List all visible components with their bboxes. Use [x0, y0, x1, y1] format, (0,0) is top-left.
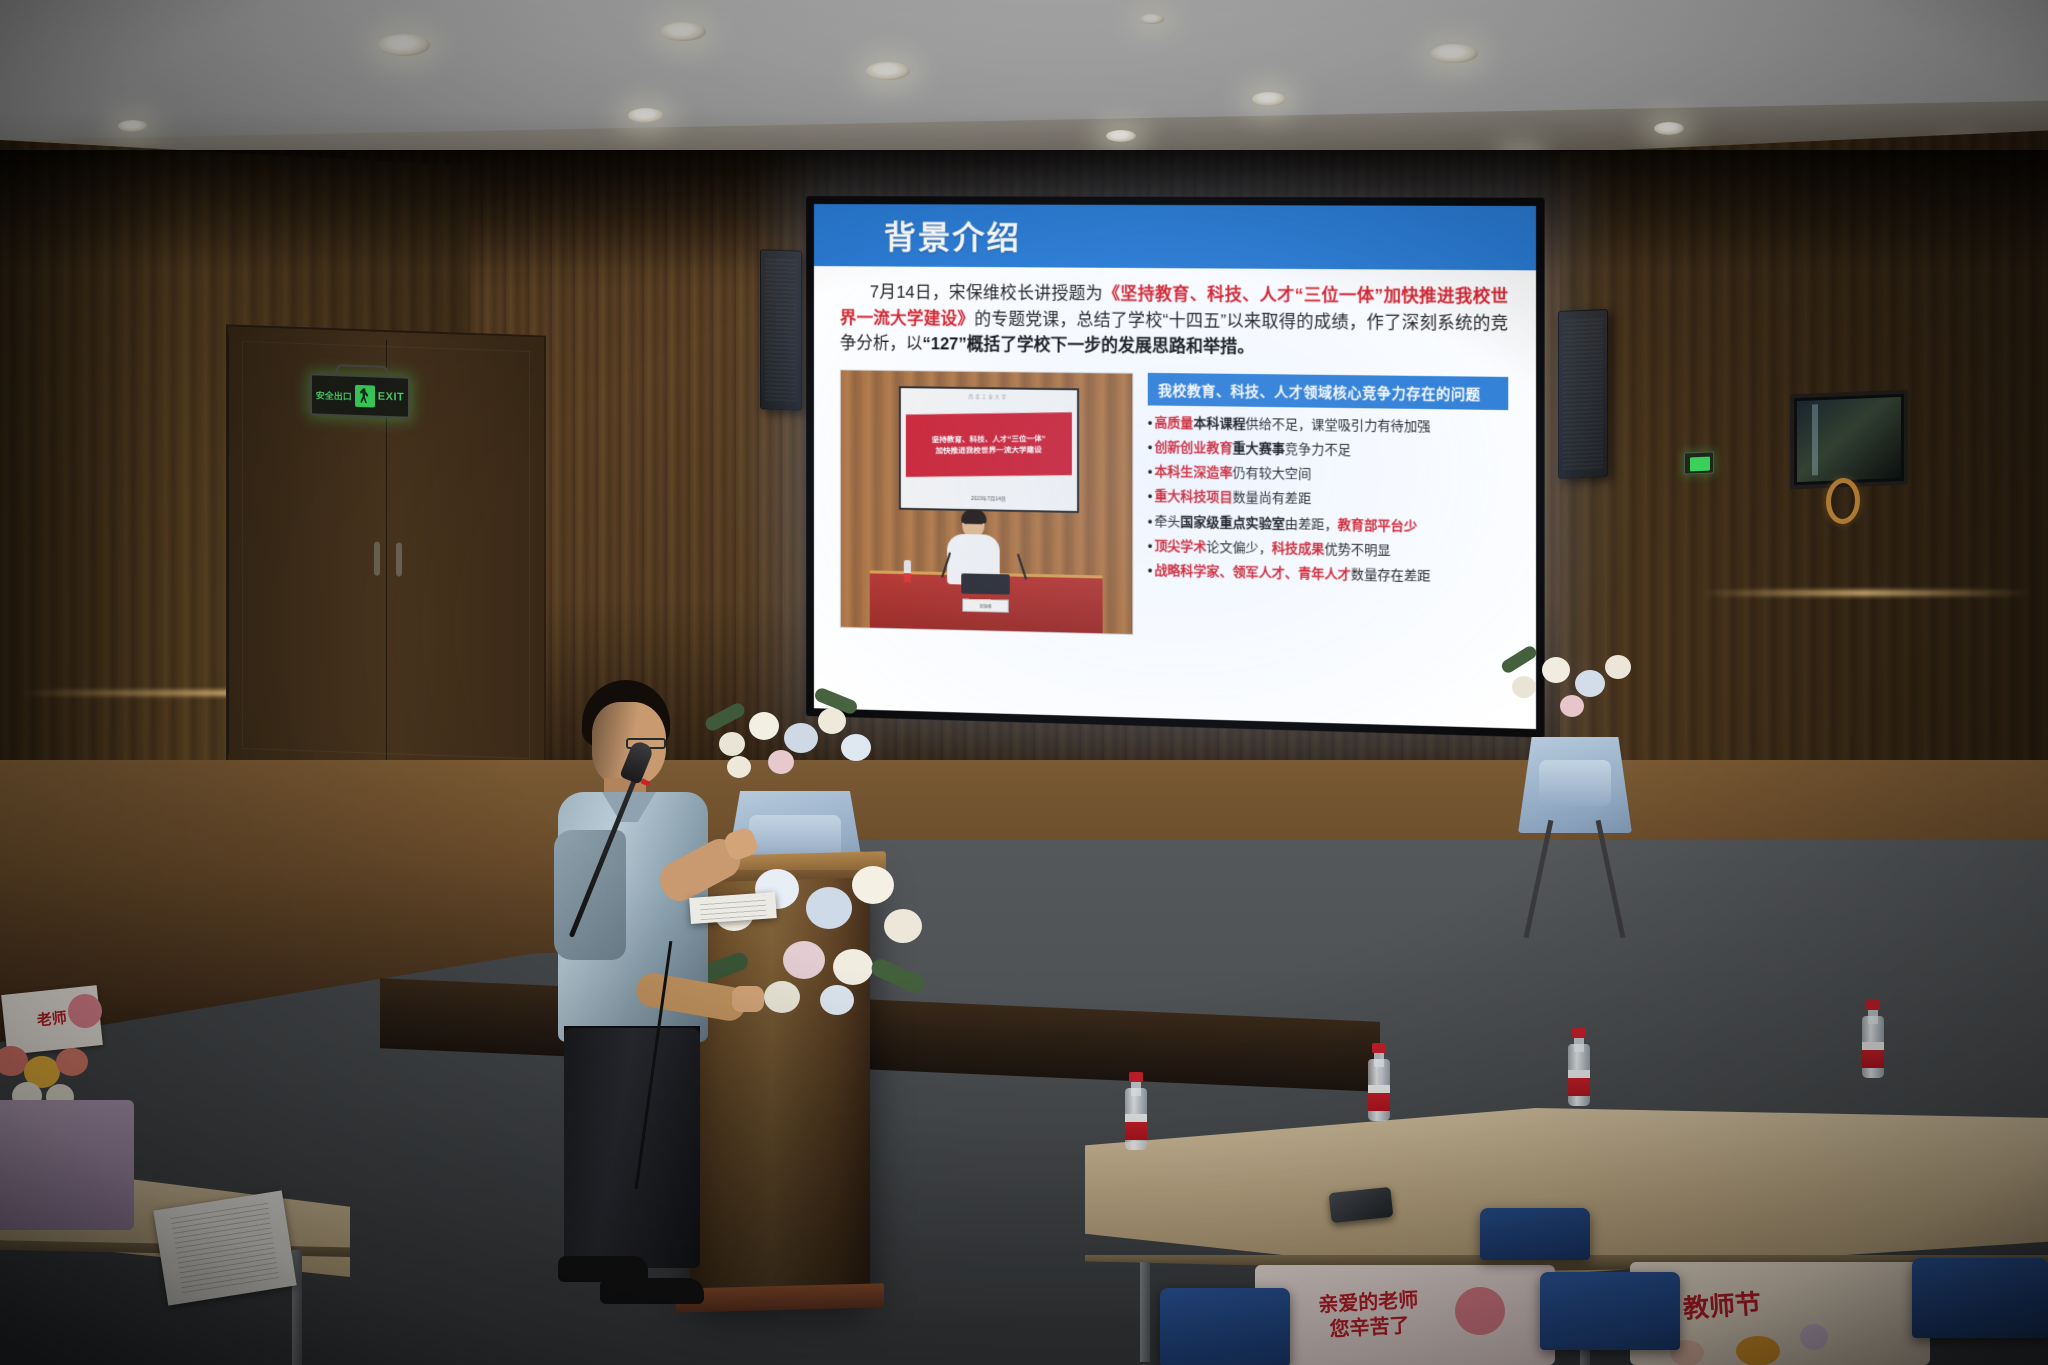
bouquet-card-line2: 您辛苦了: [1329, 1314, 1410, 1343]
blossom: [768, 750, 794, 774]
bottle-neck: [1868, 1008, 1878, 1024]
photo-water-bottle: [904, 560, 911, 582]
bottle-label: [1862, 1042, 1884, 1068]
ceiling-downlight: [1430, 44, 1478, 63]
bottle-label: [1368, 1085, 1390, 1111]
bullet-dot-icon: •: [1148, 489, 1153, 503]
audience-chair[interactable]: [1480, 1208, 1590, 1260]
bullet-plain-3: 仍有较大空间: [1233, 466, 1312, 482]
bottle-label: [1125, 1114, 1147, 1140]
blossom: [841, 734, 871, 761]
bouquet-center: 亲爱的老师 您辛苦了: [1255, 1265, 1585, 1365]
blossom: [56, 1048, 88, 1076]
bullet-black-5: 国家级重点实验室: [1180, 515, 1285, 531]
bullet-plain-4: 数量尚有差距: [1233, 491, 1312, 507]
photo-banner-date: 2023年7月14日: [900, 493, 1077, 503]
wall-mounted-display: [1790, 390, 1908, 490]
card-flower-icon: [1455, 1287, 1505, 1335]
photo-speaker-glasses: [965, 523, 983, 527]
bottle-neck: [1131, 1080, 1141, 1096]
bouquet-card-center: 亲爱的老师 您辛苦了: [1277, 1272, 1461, 1359]
bullet-plain-5a: 牵头: [1154, 514, 1180, 529]
ceiling-downlight: [1654, 122, 1684, 135]
bullet-plain-6: 论文偏少，: [1206, 540, 1271, 556]
bullet-red-1: 高质量: [1154, 415, 1193, 430]
bullet-red-3: 本科生深造率: [1154, 465, 1232, 481]
card-flower-icon: [68, 994, 102, 1028]
bullet-dot-icon: •: [1148, 465, 1153, 479]
blossom: [833, 949, 873, 985]
problems-panel-header: 我校教育、科技、人才领域核心竞争力存在的问题: [1148, 373, 1508, 410]
bullet-plain-2: 竞争力不足: [1285, 442, 1351, 457]
bullet-plain-1: 供给不足，课堂吸引力有待加强: [1246, 417, 1431, 434]
cove-light-strip: [1700, 590, 2030, 596]
audience-chair[interactable]: [1912, 1258, 2048, 1338]
photo-laptop: [961, 573, 1010, 594]
table-leg: [1140, 1262, 1150, 1362]
blossom: [852, 866, 894, 904]
blossom: [749, 712, 779, 740]
bottle-label: [1568, 1070, 1590, 1096]
blossom: [884, 909, 922, 943]
ceiling-downlight: [1140, 14, 1164, 24]
exit-sign-bracket: [336, 364, 388, 378]
ceiling-downlight: [1106, 130, 1136, 142]
slide-title: 背景介绍: [884, 212, 1021, 259]
bouquet-left: 老师: [0, 990, 150, 1240]
bottle-cap: [1372, 1043, 1386, 1053]
blossom: [783, 941, 825, 979]
bottle-cap: [1866, 1000, 1880, 1010]
slide-paragraph: 7月14日，宋保维校长讲授题为《坚持教育、科技、人才“三位一体”加快推进我校世界…: [840, 280, 1508, 364]
water-bottle: [1368, 1043, 1390, 1121]
emergency-exit-indicator-icon: [1684, 451, 1714, 474]
bullet-plain-7: 数量存在差距: [1351, 568, 1431, 584]
photo-banner-line1: 坚持教育、科技、人才“三位一体”: [932, 432, 1046, 445]
bullet-dot-icon: •: [1148, 514, 1153, 528]
ceiling-downlight: [118, 120, 148, 132]
bouquet-card-text: 老师: [36, 1009, 68, 1031]
flower-stand-right: [1500, 640, 1650, 870]
bottle-neck: [1574, 1036, 1584, 1052]
bullet-dot-icon: •: [1148, 415, 1153, 429]
bullet-item: •重大科技项目数量尚有差距: [1148, 489, 1508, 512]
audience-chair[interactable]: [1160, 1288, 1290, 1365]
ceiling-downlight: [1252, 92, 1286, 106]
blossom: [1736, 1336, 1780, 1365]
bullet-item: •本科生深造率仍有较大空间: [1148, 465, 1508, 487]
blossom: [764, 981, 800, 1013]
bullet-plain-6b: 优势不明显: [1324, 542, 1390, 558]
leaf: [1499, 644, 1538, 675]
paper-text-lines: [700, 895, 767, 920]
ribbon-bow: [1539, 760, 1611, 806]
slide-body: 7月14日，宋保维校长讲授题为《坚持教育、科技、人才“三位一体”加快推进我校世界…: [814, 266, 1536, 729]
photo-banner-line2: 加快推进我校世界一流大学建设: [935, 444, 1041, 456]
projection-screen: 背景介绍 7月14日，宋保维校长讲授题为《坚持教育、科技、人才“三位一体”加快推…: [814, 204, 1536, 729]
paragraph-quote-127: “127”: [922, 335, 966, 354]
bullet-dot-icon: •: [1148, 539, 1153, 553]
flower-stand-right-blossoms: [1500, 640, 1650, 746]
projection-screen-frame: 背景介绍 7月14日，宋保维校长讲授题为《坚持教育、科技、人才“三位一体”加快推…: [806, 196, 1545, 738]
blossom: [1575, 670, 1605, 697]
photo-backdrop-screen: 西北工业大学 坚持教育、科技、人才“三位一体” 加快推进我校世界一流大学建设 2…: [898, 386, 1079, 513]
blossom: [1560, 695, 1584, 717]
blossom: [1800, 1324, 1828, 1350]
blossom: [1542, 657, 1570, 683]
paragraph-lead: 7月14日，宋保维校长讲授题为: [870, 283, 1103, 303]
running-man-icon: [355, 385, 375, 408]
problems-bullet-list: •高质量本科课程供给不足，课堂吸引力有待加强 •创新创业教育重大赛事竞争力不足 …: [1148, 415, 1508, 587]
presenter-trousers: [564, 1028, 700, 1268]
wall-speaker-left: [760, 249, 802, 410]
bullet-item: •顶尖学术论文偏少，科技成果优势不明显: [1148, 539, 1508, 562]
bullet-item: •牵头国家级重点实验室由差距，教育部平台少: [1148, 514, 1508, 537]
door-handle[interactable]: [396, 542, 402, 576]
paragraph-tail: 概括了学校下一步的发展思路和举措。: [967, 336, 1255, 357]
presenter-shoe: [600, 1278, 704, 1304]
bottle-cap: [1129, 1072, 1143, 1082]
ceiling-downlight: [866, 62, 910, 80]
exit-sign-chinese-label: 安全出口: [316, 388, 352, 402]
slide-problems-panel: 我校教育、科技、人才领域核心竞争力存在的问题 •高质量本科课程供给不足，课堂吸引…: [1148, 373, 1508, 644]
photo-red-banner: 坚持教育、科技、人才“三位一体” 加快推进我校世界一流大学建设: [906, 412, 1072, 476]
display-glare: [1812, 404, 1818, 476]
bullet-red-5-tail: 教育部平台少: [1338, 517, 1418, 533]
slide-embedded-photo: 西北工业大学 坚持教育、科技、人才“三位一体” 加快推进我校世界一流大学建设 2…: [840, 369, 1134, 635]
presenter-left-hand: [732, 986, 764, 1012]
bouquet-wrap-left: [0, 1100, 134, 1230]
exit-sign-english-label: EXIT: [378, 391, 404, 404]
ceiling-downlight: [378, 34, 430, 56]
paper-text-lines: [170, 1202, 280, 1293]
water-bottle: [1568, 1028, 1590, 1106]
bullet-red-4: 重大科技项目: [1154, 489, 1232, 505]
ceiling-downlight: [660, 22, 706, 41]
bottle-neck: [1374, 1051, 1384, 1067]
bullet-black-1: 本科课程: [1193, 416, 1245, 431]
blossom: [1512, 676, 1536, 698]
blossom: [1605, 655, 1631, 679]
conference-room-photo: 安全出口 EXIT 背景介绍 7月14日，宋保维校长讲授题为《坚持教育、科技、人…: [0, 0, 2048, 1365]
bullet-dot-icon: •: [1148, 440, 1153, 454]
water-bottle: [1862, 1000, 1884, 1078]
bullet-red-6-tail: 科技成果: [1272, 541, 1325, 556]
bullet-red-2: 创新创业教育: [1154, 440, 1232, 455]
slide-two-column-area: 西北工业大学 坚持教育、科技、人才“三位一体” 加快推进我校世界一流大学建设 2…: [840, 369, 1508, 644]
water-bottle: [1125, 1072, 1147, 1150]
bullet-black-2: 重大赛事: [1233, 441, 1285, 456]
blossom: [806, 887, 852, 929]
wall-speaker-right: [1558, 309, 1608, 479]
photo-speaker-hair: [961, 508, 986, 523]
bullet-red-7: 战略科学家、领军人才、青年人才: [1154, 563, 1350, 582]
printed-paper[interactable]: [153, 1190, 296, 1305]
bouquet-card-text: 教师节: [1682, 1287, 1762, 1325]
leaf: [869, 956, 927, 995]
bullet-item: •战略科学家、领军人才、青年人才数量存在差距: [1148, 563, 1508, 587]
bottle-cap: [1572, 1028, 1586, 1038]
blossom: [820, 985, 854, 1015]
exit-sign: 安全出口 EXIT: [310, 373, 410, 418]
bullet-plain-5b: 由差距，: [1285, 516, 1338, 531]
photo-nameplate: 宋保维: [962, 598, 1009, 612]
photo-school-logo: 西北工业大学: [900, 393, 1077, 401]
bullet-dot-icon: •: [1148, 563, 1153, 577]
bullet-red-6: 顶尖学术: [1154, 539, 1206, 554]
slide-title-banner: 背景介绍: [814, 204, 1536, 270]
audience-chair[interactable]: [1540, 1272, 1680, 1350]
bullet-item: •创新创业教育重大赛事竞争力不足: [1148, 440, 1508, 462]
blossom: [784, 723, 818, 753]
bullet-item: •高质量本科课程供给不足，课堂吸引力有待加强: [1148, 415, 1508, 436]
door-handle[interactable]: [374, 542, 380, 576]
blossom: [818, 708, 846, 734]
ceiling-downlight: [628, 108, 664, 123]
